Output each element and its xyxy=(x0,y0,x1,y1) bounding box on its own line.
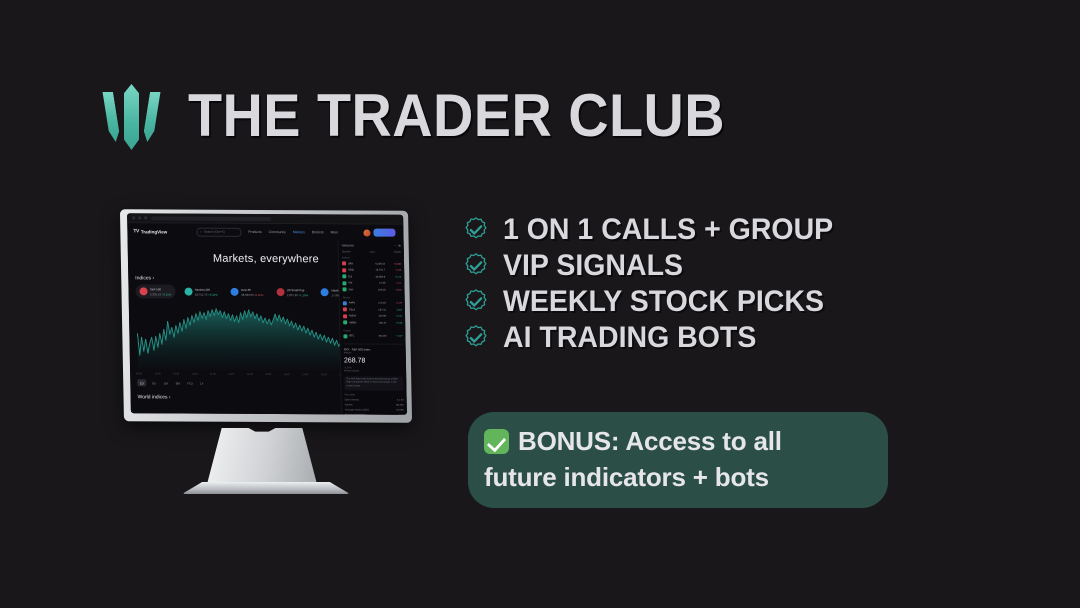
index-value: 2,007.30 xyxy=(287,293,298,297)
row-last: 66,180 xyxy=(379,335,387,338)
column-symbol: Symbol xyxy=(342,250,351,253)
row-flag-icon xyxy=(342,262,346,266)
row-flag-icon xyxy=(343,334,347,338)
row-change: +2.41 xyxy=(388,315,402,318)
index-name: S&P 500 xyxy=(150,287,171,291)
watchlist-columns: Symbol Last Chg% xyxy=(342,250,401,253)
browser-dot-2 xyxy=(138,216,141,219)
row-change: -0.34 xyxy=(387,269,401,272)
monitor-mockup: TV TradingView ⌕ Search (Ctrl+K) Product… xyxy=(120,206,420,496)
quote-price: 268.78 xyxy=(344,357,403,364)
badge-check-icon xyxy=(462,288,490,316)
stat-label: Average volume (30D) xyxy=(345,409,369,412)
tradingview-logo[interactable]: TV TradingView xyxy=(133,228,167,234)
quote-exchange: Indices xyxy=(344,351,403,355)
feature-label: 1 ON 1 CALLS + GROUP xyxy=(503,213,833,247)
stat-label: Open interest xyxy=(345,399,359,402)
index-name: Nasdaq 100 xyxy=(195,287,218,291)
browser-dot-3 xyxy=(144,216,147,219)
index-icon xyxy=(231,288,239,296)
search-icon: ⌕ xyxy=(200,230,202,234)
index-icon xyxy=(139,287,147,295)
index-card[interactable]: US Small Cap 2,007.30 +1.19% xyxy=(272,285,312,299)
get-started-button[interactable] xyxy=(373,229,395,237)
row-flag-icon xyxy=(343,288,347,292)
bonus-callout: BONUS: Access to all future indicators +… xyxy=(468,412,888,508)
row-last: 186.10 xyxy=(379,321,387,324)
x-tick: 13:00 xyxy=(265,373,271,376)
index-change: +0.25% xyxy=(162,292,172,296)
row-symbol: VIX xyxy=(348,282,361,285)
watchlist-row[interactable]: BTC 66,180 +1.07 xyxy=(343,333,402,340)
index-value: 18,752.70 xyxy=(195,292,208,296)
index-card[interactable]: Dow 30 38,589.66 -0.15% xyxy=(226,285,267,299)
row-last: 130.98 xyxy=(378,315,386,318)
nav-item-more[interactable]: More xyxy=(331,230,339,234)
index-change: +0.54% xyxy=(208,292,218,296)
x-tick: 14:00 xyxy=(302,373,308,376)
feature-item-calls: 1 ON 1 CALLS + GROUP xyxy=(462,212,851,248)
tradingview-page: TV TradingView ⌕ Search (Ctrl+K) Product… xyxy=(127,223,407,414)
page-title: THE TRADER CLUB xyxy=(188,86,725,146)
nav-item-brokers[interactable]: Brokers xyxy=(312,230,324,234)
index-icon xyxy=(184,288,192,296)
row-symbol: AAPL xyxy=(349,302,362,305)
row-symbol: BTC xyxy=(349,335,362,338)
tradingview-logo-text: TradingView xyxy=(141,229,168,234)
row-symbol: TSLA xyxy=(349,308,362,311)
range-button-1y[interactable]: 1Y xyxy=(197,380,206,387)
x-tick: 14:30 xyxy=(321,373,327,376)
watchlist-actions-icon[interactable]: ⋯ ⊞ xyxy=(394,244,400,248)
watchlist-row[interactable]: AMZN 186.10 +0.33 xyxy=(343,319,402,326)
brand-header: THE TRADER CLUB xyxy=(100,82,765,150)
quote-panel: SPX · S&P 500 Index Indices 268.78 -2.27… xyxy=(344,343,404,414)
nav-item-products[interactable]: Products xyxy=(248,230,261,234)
monitor-stand-base xyxy=(182,482,350,494)
bonus-first-line: BONUS: Access to all xyxy=(484,426,870,457)
quote-status: Market closed xyxy=(344,370,403,374)
avatar[interactable] xyxy=(363,229,370,236)
watchlist-title: Watchlist xyxy=(342,243,354,247)
index-name: Dow 30 xyxy=(241,287,263,291)
stat-label: Volume xyxy=(345,404,353,407)
row-change: -1.21 xyxy=(387,282,401,285)
green-check-emoji-icon xyxy=(484,429,509,454)
row-symbol: NDQ xyxy=(348,269,361,272)
bonus-text-line2: future indicators + bots xyxy=(484,462,870,493)
index-value: 38,589.66 xyxy=(241,292,254,296)
index-icon xyxy=(276,288,284,296)
row-last: 18,752.7 xyxy=(375,269,385,272)
key-stats-label: Key stats xyxy=(345,394,404,397)
row-symbol: AMZN xyxy=(349,321,362,324)
row-flag-icon xyxy=(343,314,347,318)
row-change: +0.09 xyxy=(388,288,402,291)
nav-item-community[interactable]: Community xyxy=(269,230,286,234)
watchlist-group-label: Stocks xyxy=(343,296,402,299)
watchlist-header: Watchlist ⋯ ⊞ xyxy=(342,243,401,247)
logo-blade-left xyxy=(98,92,121,142)
feature-item-ai-bots: AI TRADING BOTS xyxy=(462,320,851,356)
row-change: +0.33 xyxy=(388,321,402,324)
feature-list: 1 ON 1 CALLS + GROUP VIP SIGNALS WEEKLY … xyxy=(462,212,851,356)
row-last: 12.66 xyxy=(379,282,385,285)
row-symbol: DJI xyxy=(348,275,361,278)
row-symbol: NVDA xyxy=(349,315,362,318)
stat-row: Market capitalization 12.8T xyxy=(345,413,404,415)
browser-dot-1 xyxy=(132,216,135,219)
stat-value: 88.30K xyxy=(396,404,404,407)
index-card[interactable]: Nasdaq 100 18,752.70 +0.54% xyxy=(180,285,222,299)
range-button-ytd[interactable]: YTD xyxy=(185,380,194,387)
badge-check-icon xyxy=(462,216,490,244)
watchlist-row[interactable]: DXY 105.28 +0.09 xyxy=(342,286,401,293)
logo-blade-right xyxy=(142,92,165,142)
row-change: +13.80 xyxy=(387,262,401,265)
index-icon xyxy=(321,288,329,296)
index-value: 5,335.16 xyxy=(150,292,161,296)
row-last: 212.49 xyxy=(378,302,386,305)
row-flag-icon xyxy=(343,301,347,305)
range-button-1d[interactable]: 1D xyxy=(137,379,146,386)
logo-blade-center xyxy=(124,84,139,150)
slide-canvas: THE TRADER CLUB TV TradingView ⌕ xyxy=(0,0,1080,608)
feature-label: VIP SIGNALS xyxy=(503,249,683,283)
row-symbol: DXY xyxy=(349,288,362,291)
search-input[interactable]: ⌕ Search (Ctrl+K) xyxy=(196,227,241,236)
trader-club-logo-icon xyxy=(100,82,162,150)
range-button-6m[interactable]: 6M xyxy=(173,379,182,386)
range-button-1m[interactable]: 1M xyxy=(161,379,170,386)
x-tick: 12:30 xyxy=(247,373,253,376)
index-change: +1.19% xyxy=(298,293,308,297)
search-placeholder: Search (Ctrl+K) xyxy=(204,230,225,234)
watchlist-group-label: Crypto xyxy=(343,329,402,332)
nav-item-markets[interactable]: Markets xyxy=(293,230,305,234)
x-tick: 11:00 xyxy=(192,373,198,376)
row-flag-icon xyxy=(343,321,347,325)
badge-check-icon xyxy=(462,252,490,280)
row-flag-icon xyxy=(342,281,346,285)
row-flag-icon xyxy=(343,308,347,312)
tradingview-navbar: TV TradingView ⌕ Search (Ctrl+K) Product… xyxy=(127,223,403,240)
feature-label: WEEKLY STOCK PICKS xyxy=(503,285,824,319)
quote-description: The S&P 500 Index tracks the performance… xyxy=(344,376,403,391)
stat-value: 12.8T xyxy=(398,414,404,415)
x-tick: 13:30 xyxy=(284,373,290,376)
row-change: +1.07 xyxy=(388,335,402,338)
x-tick: 10:00 xyxy=(155,372,161,375)
index-card[interactable]: S&P 500 5,335.16 +0.25% xyxy=(135,284,175,298)
monitor-stand-neck xyxy=(206,428,318,488)
row-last: 5,335.16 xyxy=(375,262,385,265)
range-button-5d[interactable]: 5D xyxy=(149,379,158,386)
monitor-screen: TV TradingView ⌕ Search (Ctrl+K) Product… xyxy=(127,213,407,414)
row-last: 38,589.6 xyxy=(376,275,386,278)
x-tick: 12:00 xyxy=(228,373,234,376)
index-change: -0.15% xyxy=(254,292,263,296)
row-symbol: SPX xyxy=(348,262,361,265)
tradingview-mark-icon: TV xyxy=(133,228,139,234)
column-chg: Chg% xyxy=(394,251,401,254)
stat-value: 6.17M xyxy=(397,399,404,402)
row-change: -0.87 xyxy=(388,308,402,311)
watchlist-group-label: Indices xyxy=(342,256,401,259)
feature-item-vip-signals: VIP SIGNALS xyxy=(462,248,851,284)
row-change: +0.12 xyxy=(387,275,401,278)
x-tick: 09:30 xyxy=(136,372,142,375)
index-name: US Small Cap xyxy=(287,288,308,292)
x-tick: 10:30 xyxy=(173,372,179,375)
row-last: 105.28 xyxy=(378,288,386,291)
row-flag-icon xyxy=(342,275,346,279)
row-flag-icon xyxy=(342,268,346,272)
browser-url-bar[interactable] xyxy=(151,216,271,221)
stat-value: 94.08K xyxy=(396,409,404,412)
row-last: 187.44 xyxy=(378,308,386,311)
bonus-text-line1: BONUS: Access to all xyxy=(518,426,782,457)
badge-check-icon xyxy=(462,324,490,352)
column-last: Last xyxy=(370,251,375,254)
watchlist-sidebar: Watchlist ⋯ ⊞ Symbol Last Chg% Indices S… xyxy=(338,240,407,414)
feature-label: AI TRADING BOTS xyxy=(503,321,756,355)
x-tick: 11:30 xyxy=(210,373,216,376)
row-change: +1.25 xyxy=(388,302,402,305)
feature-item-stock-picks: WEEKLY STOCK PICKS xyxy=(462,284,851,320)
key-stats: Key stats Open interest 6.17M Volume 88.… xyxy=(345,394,404,415)
